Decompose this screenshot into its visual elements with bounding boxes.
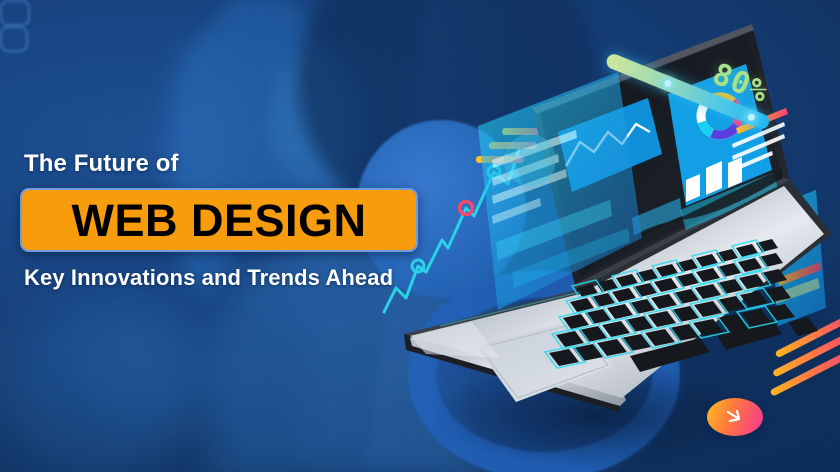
laptop-illustration	[380, 20, 840, 472]
page-title: WEB DESIGN	[71, 198, 366, 243]
eyeglasses-icon	[0, 26, 28, 52]
eyeglasses-icon	[0, 0, 30, 26]
subtitle-text: Key Innovations and Trends Ahead	[24, 265, 440, 291]
cursor-arrow-icon[interactable]	[707, 398, 763, 436]
title-banner: WEB DESIGN	[20, 188, 418, 252]
eyebrow-text: The Future of	[24, 150, 440, 178]
hero-banner: The Future of WEB DESIGN Key Innovations…	[0, 0, 840, 472]
headline-group: The Future of WEB DESIGN Key Innovations…	[20, 150, 440, 291]
